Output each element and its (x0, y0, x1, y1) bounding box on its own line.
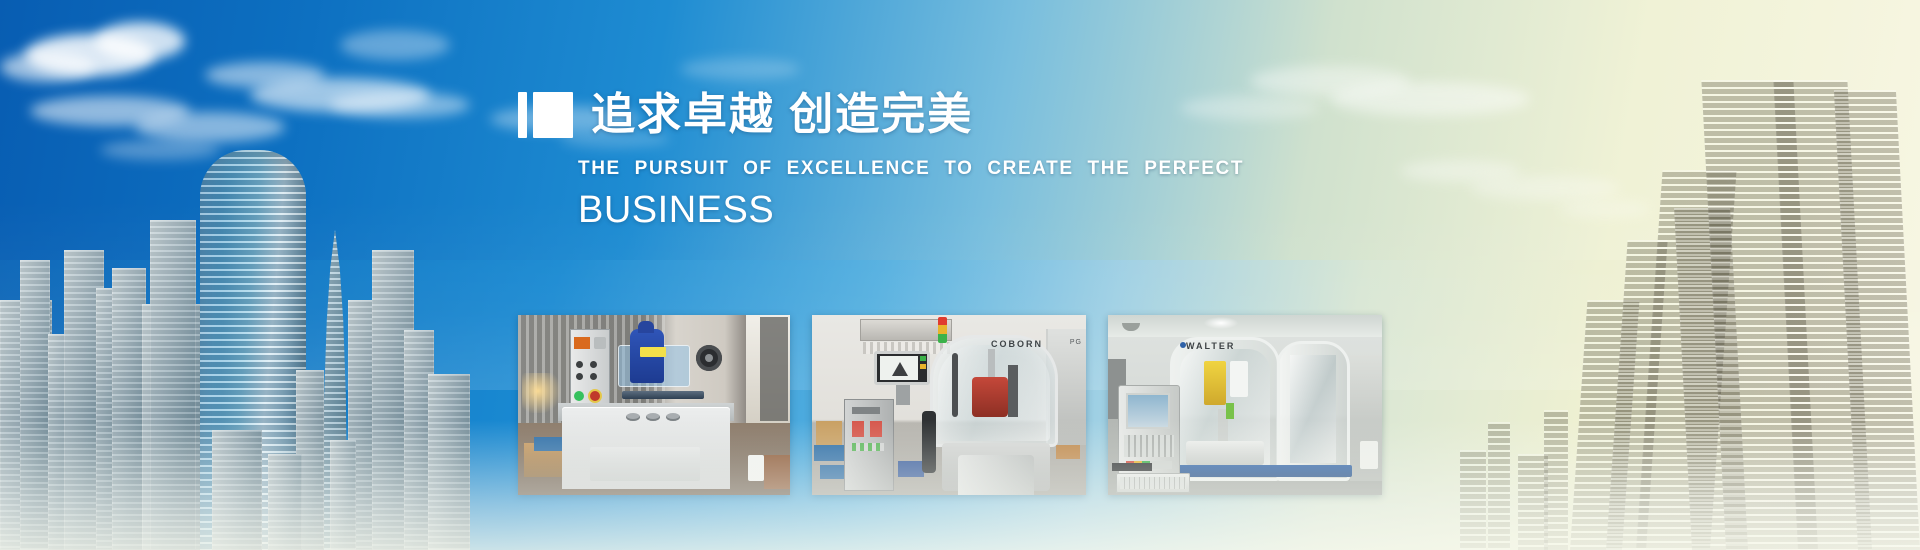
photo-strip: COBORN PG WALTER (518, 315, 1382, 495)
machine-photo-1[interactable] (518, 315, 790, 495)
headline-row: 追求卓越 创造完美 (518, 92, 1278, 138)
machine-photo-3[interactable]: WALTER (1108, 315, 1382, 495)
machine-brand-secondary: PG (1070, 339, 1082, 346)
business-word: BUSINESS (578, 189, 1278, 232)
machine-photo-2[interactable]: COBORN PG (812, 315, 1086, 495)
bar-and-square-mark-icon (518, 92, 573, 138)
subtitle-english: THE PURSUIT OF EXCELLENCE TO CREATE THE … (578, 158, 1278, 180)
machine-brand-label: COBORN (972, 339, 1062, 349)
page-title: 追求卓越 创造完美 (591, 93, 973, 137)
hero-banner: 追求卓越 创造完美 THE PURSUIT OF EXCELLENCE TO C… (0, 0, 1920, 550)
headline-block: 追求卓越 创造完美 THE PURSUIT OF EXCELLENCE TO C… (518, 92, 1278, 232)
machine-brand-label: WALTER (1186, 341, 1272, 351)
